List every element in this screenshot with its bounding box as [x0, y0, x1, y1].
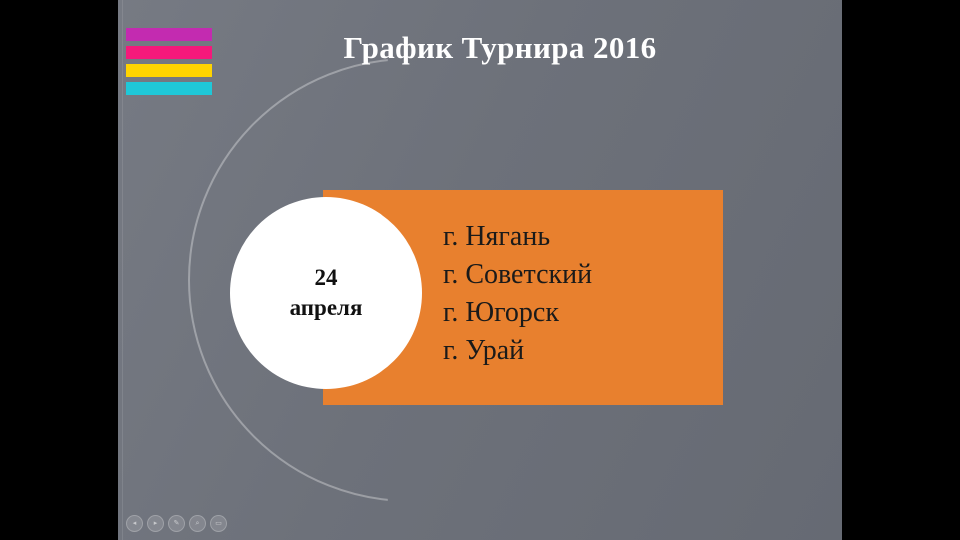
date-circle: 24 апреля: [230, 197, 422, 389]
player-toolbar[interactable]: ◂ ▸ ✎ ⌕ ▭: [126, 515, 227, 532]
date-day: 24: [315, 263, 338, 293]
list-item: г. Югорск: [443, 294, 592, 332]
list-item: г. Нягань: [443, 218, 592, 256]
slide-canvas: График Турнира 2016 г. Нягань г. Советск…: [118, 0, 842, 540]
left-edge-line: [122, 0, 123, 540]
slide-title: График Турнира 2016: [118, 30, 842, 66]
letterbox-right: [842, 0, 960, 540]
pen-button[interactable]: ✎: [168, 515, 185, 532]
menu-button[interactable]: ▭: [210, 515, 227, 532]
stripe-cyan: [126, 82, 212, 95]
list-item: г. Урай: [443, 332, 592, 370]
cities-list: г. Нягань г. Советский г. Югорск г. Урай: [443, 218, 592, 370]
list-item: г. Советский: [443, 256, 592, 294]
previous-button[interactable]: ◂: [126, 515, 143, 532]
letterbox-left: [0, 0, 118, 540]
zoom-button[interactable]: ⌕: [189, 515, 206, 532]
play-button[interactable]: ▸: [147, 515, 164, 532]
date-month: апреля: [290, 293, 363, 323]
screen: График Турнира 2016 г. Нягань г. Советск…: [0, 0, 960, 540]
